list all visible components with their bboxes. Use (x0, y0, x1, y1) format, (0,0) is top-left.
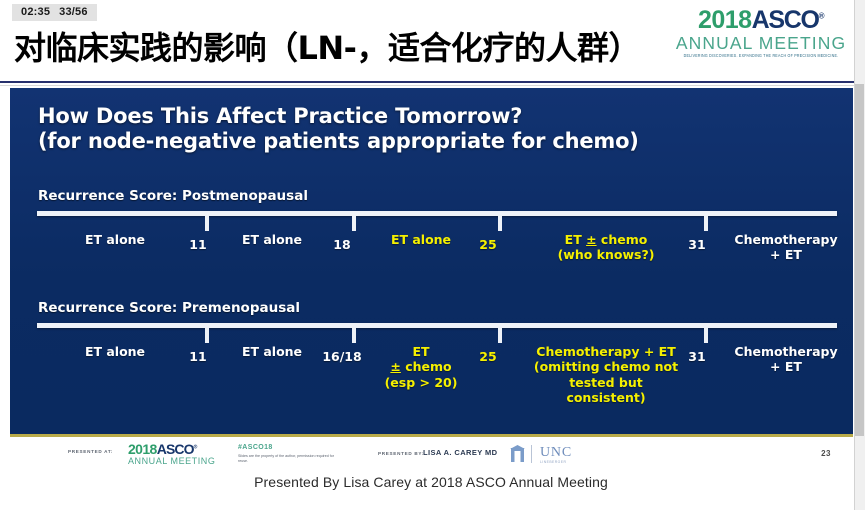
slide-heading-line-2: (for node-negative patients appropriate … (38, 129, 639, 154)
timeline-axis (37, 323, 837, 328)
slide-canvas: How Does This Affect Practice Tomorrow? … (10, 88, 853, 434)
timeline-axis (37, 211, 837, 216)
timeline-segment-label: ET alone (370, 232, 472, 247)
timeline-segment-label: ET± chemo(esp > 20) (370, 344, 472, 390)
unc-logo-divider (531, 445, 532, 463)
presented-at-label: PRESENTED AT: (68, 449, 113, 454)
asco-logo-word: ASCO (752, 6, 819, 34)
footer-registered-icon: ® (194, 444, 197, 450)
footer-asco-logo-primary: 2018ASCO® (128, 442, 215, 456)
presenter-name: LISA A. CAREY MD (423, 448, 497, 457)
asco-logo-primary: 2018ASCO® (671, 8, 851, 33)
header-divider (0, 81, 862, 83)
top-bar: 02:3533/56 对临床实践的影响（LN-，适合化疗的人群） 2018ASC… (0, 0, 865, 84)
permission-note: Slides are the property of the author, p… (238, 454, 343, 465)
timeline-segment-label: ET alone (222, 232, 322, 247)
asco-logo-year: 2018 (698, 6, 752, 34)
hashtag-label: #ASCO18 (238, 444, 273, 451)
footer-asco-logo-year: 2018 (128, 441, 157, 457)
timeline-segment-label: ET alone (50, 344, 180, 359)
footer-asco-logo-subtitle: ANNUAL MEETING (128, 457, 215, 466)
slide-page-number: 23 (821, 449, 831, 458)
timeline-tick-value: 16/18 (316, 349, 368, 364)
asco-logo: 2018ASCO® ANNUAL MEETING DELIVERING DISC… (671, 8, 851, 58)
timeline-title: Recurrence Score: Postmenopausal (38, 188, 308, 204)
slide-footer: PRESENTED AT: 2018ASCO® ANNUAL MEETING #… (10, 437, 853, 470)
asco-logo-subtitle: ANNUAL MEETING (671, 35, 851, 53)
timeline-segment-label: Chemotherapy+ ET (722, 232, 850, 263)
timeline-title: Recurrence Score: Premenopausal (38, 300, 300, 316)
timeline-segment-label: Chemotherapy + ET(omitting chemo nottest… (530, 344, 682, 405)
footer-asco-logo: 2018ASCO® ANNUAL MEETING (128, 442, 215, 466)
player-timestamp: 02:35 (21, 6, 50, 18)
slide-heading: How Does This Affect Practice Tomorrow? … (38, 104, 639, 154)
player-slide-counter: 33/56 (59, 6, 88, 18)
timeline-segment-label: ET alone (222, 344, 322, 359)
page-title: 对临床实践的影响（LN-，适合化疗的人群） (14, 23, 640, 69)
timeline-labels: 1116/182531ET aloneET aloneET± chemo(esp… (10, 340, 853, 430)
timeline-segment-label: ET ± chemo(who knows?) (530, 232, 682, 263)
presented-by-label: PRESENTED BY: (378, 451, 424, 456)
header-divider-secondary (0, 85, 862, 86)
unc-logo-subtext: LINEBERGER (540, 460, 566, 464)
presentation-caption: Presented By Lisa Carey at 2018 ASCO Ann… (0, 474, 862, 490)
scrollbar-track[interactable] (854, 0, 865, 510)
asco-logo-tagline: DELIVERING DISCOVERIES. EXPANDING THE RE… (671, 54, 851, 58)
timeline-segment-label: Chemotherapy+ ET (722, 344, 850, 375)
unc-wellhouse-icon (510, 445, 525, 463)
timeline-segment-label: ET alone (50, 232, 180, 247)
slide-heading-line-1: How Does This Affect Practice Tomorrow? (38, 104, 639, 129)
timeline-tick-value: 18 (316, 237, 368, 252)
scrollbar-thumb[interactable] (855, 84, 864, 436)
unc-logo-text: UNC (540, 446, 572, 460)
player-progress-badge: 02:3533/56 (12, 4, 97, 21)
footer-asco-logo-word: ASCO (157, 441, 194, 457)
registered-icon: ® (819, 12, 824, 21)
